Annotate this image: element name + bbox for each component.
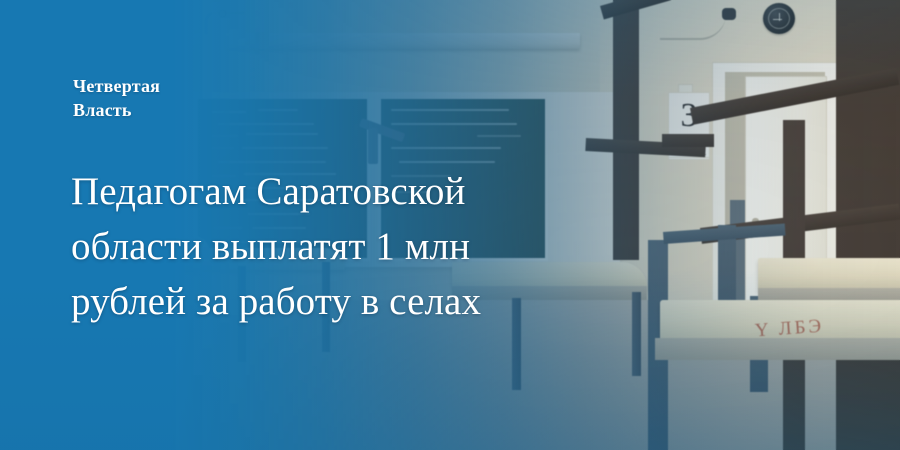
brand-logo-line1: Четвертая <box>73 76 160 96</box>
news-share-card: 3 Y ЛБЭ <box>0 0 900 450</box>
headline-line-3: рублей за работу в селах <box>71 274 711 329</box>
headline-line-1: Педагогам Саратовской <box>71 164 711 219</box>
brand-logo-line2: Власть <box>73 98 373 122</box>
headline-line-2: области выплатят 1 млн <box>71 219 711 274</box>
headline: Педагогам Саратовской области выплатят 1… <box>71 164 711 329</box>
brand-logo[interactable]: Четвертая Власть <box>73 74 373 122</box>
card-content: Четвертая Власть Педагогам Саратовской о… <box>0 0 900 450</box>
